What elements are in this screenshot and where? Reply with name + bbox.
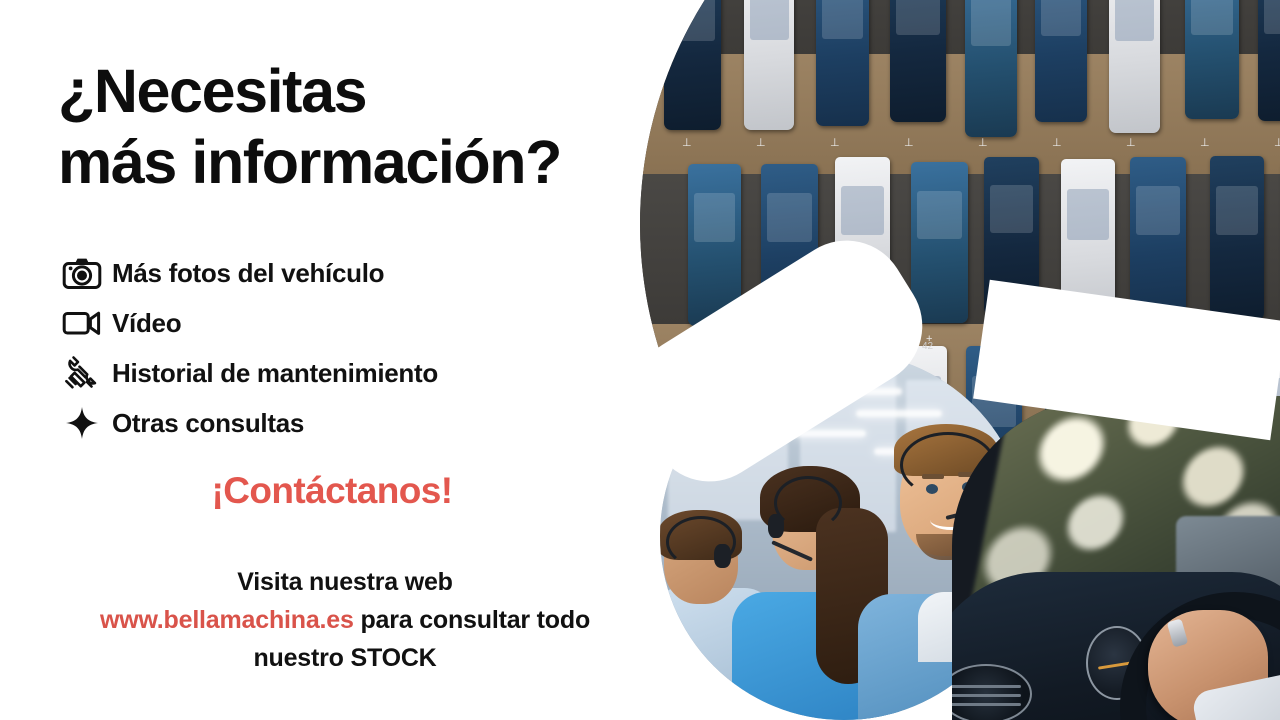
website-line-2-rest: para consultar todo [354,606,590,634]
contact-cta: ¡Contáctanos! [0,470,664,512]
list-item: Historial de mantenimiento [52,348,612,398]
page-title: ¿Necesitas más información? [58,56,561,198]
website-line-1: Visita nuestra web [237,568,452,596]
promo-banner: +++++++++++⊥⊥⊥⊥⊥⊥⊥⊥⊥⊥⊥+++++++++++4544434… [0,0,1280,720]
car-interior-driving-photo [952,396,1280,720]
list-item-label: Vídeo [112,308,181,339]
wrench-hand-icon [52,351,112,395]
website-block: Visita nuestra web www.bellamachina.es p… [0,563,690,677]
list-item: Otras consultas [52,398,612,448]
list-item: Vídeo [52,298,612,348]
website-line-3: nuestro STOCK [253,644,436,672]
list-item: Más fotos del vehículo [52,248,612,298]
feature-list: Más fotos del vehículo Vídeo [52,248,612,448]
wedding-ring [1167,618,1189,647]
camera-icon [52,251,112,295]
list-item-label: Historial de mantenimiento [112,358,438,389]
list-item-label: Otras consultas [112,408,304,439]
video-icon [52,301,112,345]
sparkle-icon [52,401,112,445]
list-item-label: Más fotos del vehículo [112,258,384,289]
website-url[interactable]: www.bellamachina.es [100,606,354,634]
